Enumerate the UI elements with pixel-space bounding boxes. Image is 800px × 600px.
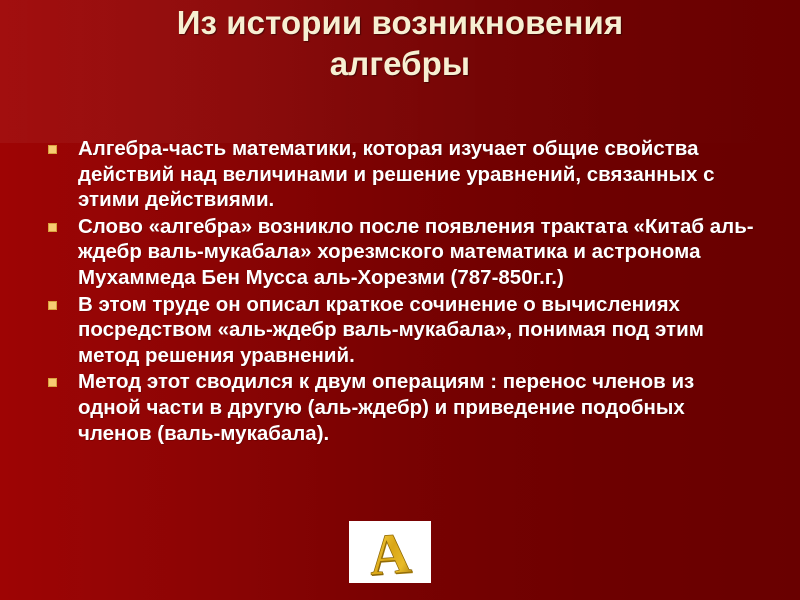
bullet-item-2: Слово «алгебра» возникло после появления… bbox=[44, 214, 756, 291]
square-bullet-icon bbox=[48, 301, 57, 310]
bullet-item-4: Метод этот сводился к двум операциям : п… bbox=[44, 369, 756, 446]
slide-title-line-1: Из истории возникновения bbox=[40, 2, 760, 43]
bullet-item-3: В этом труде он описал краткое сочинение… bbox=[44, 292, 756, 369]
bullet-item-1: Алгебра-часть математики, которая изучае… bbox=[44, 136, 756, 213]
bullet-item-4-text: Метод этот сводился к двум операциям : п… bbox=[78, 369, 756, 446]
slide-bullet-list: Алгебра-часть математики, которая изучае… bbox=[44, 136, 756, 447]
slide-title: Из истории возникновения алгебры bbox=[40, 2, 760, 84]
square-bullet-icon bbox=[48, 378, 57, 387]
bullet-item-3-text: В этом труде он описал краткое сочинение… bbox=[78, 292, 756, 369]
square-bullet-icon bbox=[48, 145, 57, 154]
bullet-item-1-text: Алгебра-часть математики, которая изучае… bbox=[78, 136, 756, 213]
square-bullet-icon bbox=[48, 223, 57, 232]
bullet-item-2-text: Слово «алгебра» возникло после появления… bbox=[78, 214, 756, 291]
presentation-slide: Из истории возникновения алгебры Алгебра… bbox=[0, 0, 800, 600]
svg-text:A: A bbox=[367, 524, 413, 580]
gold-letter-a-icon: A A bbox=[357, 524, 423, 580]
gold-letter-a-glyph: A A bbox=[349, 521, 431, 583]
slide-title-line-2: алгебры bbox=[40, 43, 760, 84]
gold-letter-a-image: A A bbox=[349, 521, 431, 583]
